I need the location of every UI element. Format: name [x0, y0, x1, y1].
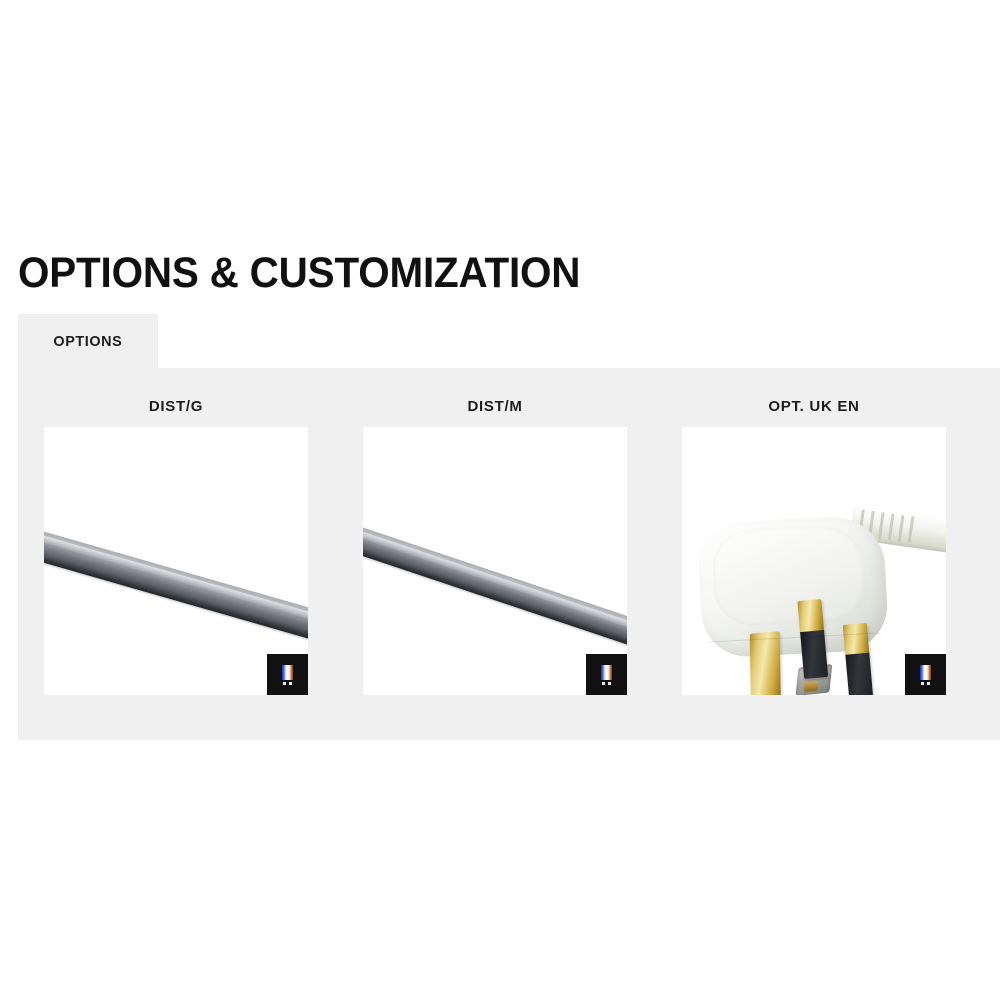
page-root: OPTIONS & CUSTOMIZATION OPTIONS DIST/G — [0, 0, 1000, 1000]
option-label: OPT. UK EN — [682, 398, 946, 415]
page-title: OPTIONS & CUSTOMIZATION — [18, 247, 580, 299]
rail-highlight — [44, 523, 308, 629]
rail-shape — [363, 514, 627, 654]
options-panel: DIST/G — [18, 368, 1000, 740]
tab-options[interactable]: OPTIONS — [18, 314, 158, 368]
option-card[interactable]: OPT. UK EN — [682, 398, 946, 695]
thumbnail-badge[interactable] — [586, 654, 627, 695]
thumbnail-badge[interactable] — [905, 654, 946, 695]
tab-options-label: OPTIONS — [54, 333, 123, 350]
product-thumbnail-icon — [601, 665, 612, 685]
rail-shape — [44, 520, 308, 648]
option-label: DIST/G — [44, 398, 308, 415]
thumbnail-badge[interactable] — [267, 654, 308, 695]
option-card[interactable]: DIST/G — [44, 398, 308, 695]
plug-face — [711, 523, 866, 627]
rail-highlight — [363, 517, 627, 638]
plug-body — [697, 514, 890, 659]
option-thumbnail[interactable] — [363, 427, 627, 695]
plug-pin-neutral — [843, 623, 874, 695]
option-card[interactable]: DIST/M — [363, 398, 627, 695]
product-thumbnail-icon — [920, 665, 931, 685]
option-label: DIST/M — [363, 398, 627, 415]
options-grid: DIST/G — [18, 368, 1000, 740]
tab-strip: OPTIONS — [18, 314, 982, 368]
product-thumbnail-icon — [282, 665, 293, 685]
option-thumbnail[interactable] — [682, 427, 946, 695]
option-thumbnail[interactable] — [44, 427, 308, 695]
plug-pin-earth — [750, 631, 781, 695]
